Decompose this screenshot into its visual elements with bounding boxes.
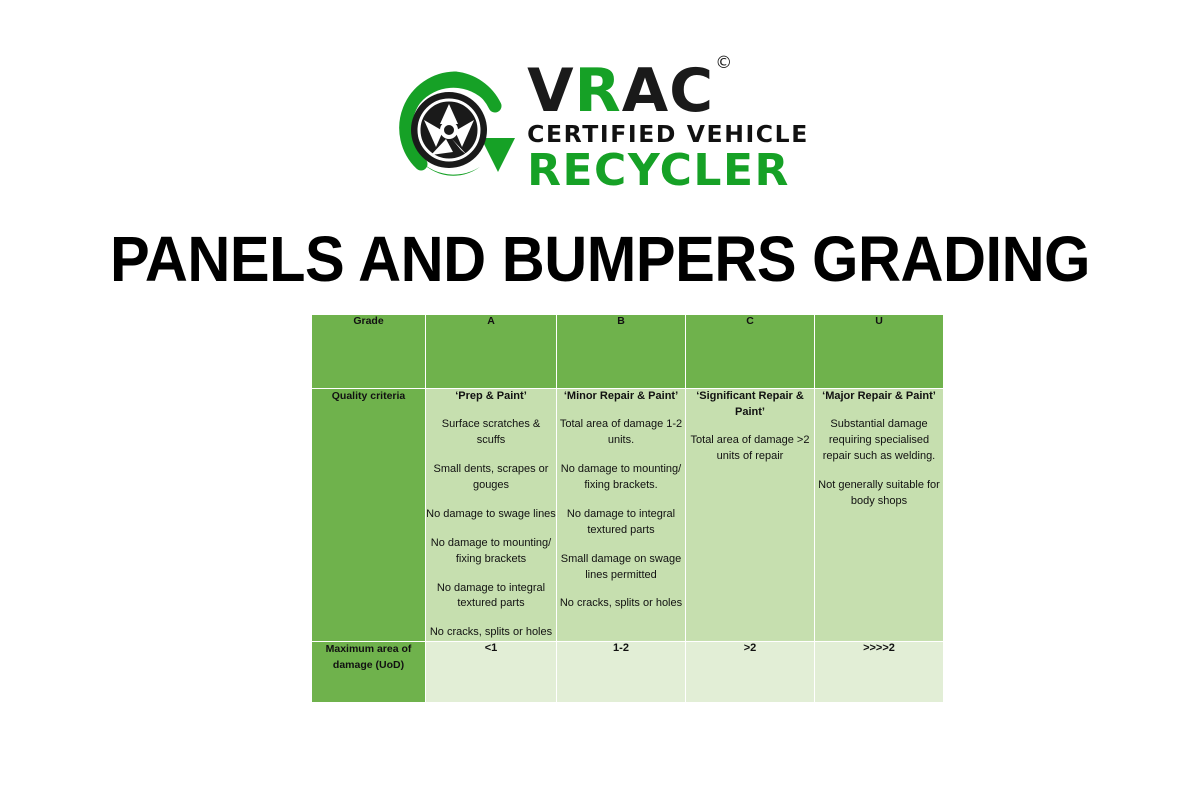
- copyright-icon: ©: [715, 53, 733, 73]
- table-row-quality-criteria: Quality criteria ‘Prep & Paint’ Surface …: [312, 389, 943, 641]
- header-grade-label: Grade: [312, 315, 425, 388]
- cell-a-line-2: Small dents, scrapes or gouges: [426, 462, 556, 494]
- cell-b-line-5: No cracks, splits or holes: [557, 596, 685, 612]
- logo-letters-ac: AC: [622, 56, 714, 126]
- header-grade-b: B: [557, 315, 685, 388]
- table-row-maximum-area: Maximum area of damage (UoD) <1 1-2 >2 >…: [312, 642, 943, 702]
- cell-c-line-1: Total area of damage >2 units of repair: [686, 433, 814, 465]
- page-title: PANELS AND BUMPERS GRADING: [42, 222, 1158, 296]
- logo-subtitle: RECYCLER: [527, 149, 790, 193]
- cell-a-line-1: Surface scratches & scuffs: [426, 417, 556, 449]
- vrac-logo: VRAC© CERTIFIED VEHICLE RECYCLER: [0, 58, 1200, 198]
- cell-criteria-u: ‘Major Repair & Paint’ Substantial damag…: [815, 389, 943, 641]
- cell-criteria-a: ‘Prep & Paint’ Surface scratches & scuff…: [426, 389, 556, 641]
- cell-c-heading: ‘Significant Repair & Paint’: [686, 389, 814, 421]
- cell-a-line-3: No damage to swage lines: [426, 507, 556, 523]
- cell-a-line-6: No cracks, splits or holes: [426, 625, 556, 641]
- cell-u-line-1: Substantial damage requiring specialised…: [815, 417, 943, 465]
- rowlabel-maximum-area: Maximum area of damage (UoD): [312, 642, 425, 702]
- cell-maxarea-a: <1: [426, 642, 556, 702]
- table-header-row: Grade A B C U: [312, 315, 943, 388]
- page-root: VRAC© CERTIFIED VEHICLE RECYCLER PANELS …: [0, 0, 1200, 800]
- cell-b-line-4: Small damage on swage lines permitted: [557, 552, 685, 584]
- cell-u-heading: ‘Major Repair & Paint’: [815, 389, 943, 405]
- header-grade-c: C: [686, 315, 814, 388]
- cell-b-line-3: No damage to integral textured parts: [557, 507, 685, 539]
- logo-tagline: CERTIFIED VEHICLE: [527, 123, 809, 147]
- cell-maxarea-b: 1-2: [557, 642, 685, 702]
- cell-u-line-2: Not generally suitable for body shops: [815, 478, 943, 510]
- cell-a-line-4: No damage to mounting/ fixing brackets: [426, 536, 556, 568]
- cell-maxarea-u: >>>>2: [815, 642, 943, 702]
- logo-letter-r: R: [575, 56, 622, 126]
- rowlabel-quality-criteria: Quality criteria: [312, 389, 425, 641]
- header-grade-u: U: [815, 315, 943, 388]
- grading-table: Grade A B C U Quality criteria ‘Prep & P…: [311, 314, 944, 703]
- recycling-wheel-icon: [391, 64, 519, 192]
- header-grade-a: A: [426, 315, 556, 388]
- logo-wordmark: VRAC©: [527, 63, 732, 120]
- cell-maxarea-c: >2: [686, 642, 814, 702]
- cell-criteria-b: ‘Minor Repair & Paint’ Total area of dam…: [557, 389, 685, 641]
- cell-b-heading: ‘Minor Repair & Paint’: [557, 389, 685, 405]
- cell-a-heading: ‘Prep & Paint’: [426, 389, 556, 405]
- cell-b-line-1: Total area of damage 1-2 units.: [557, 417, 685, 449]
- logo-letter-v: V: [527, 56, 574, 126]
- cell-a-line-5: No damage to integral textured parts: [426, 581, 556, 613]
- cell-criteria-c: ‘Significant Repair & Paint’ Total area …: [686, 389, 814, 641]
- cell-b-line-2: No damage to mounting/ fixing brackets.: [557, 462, 685, 494]
